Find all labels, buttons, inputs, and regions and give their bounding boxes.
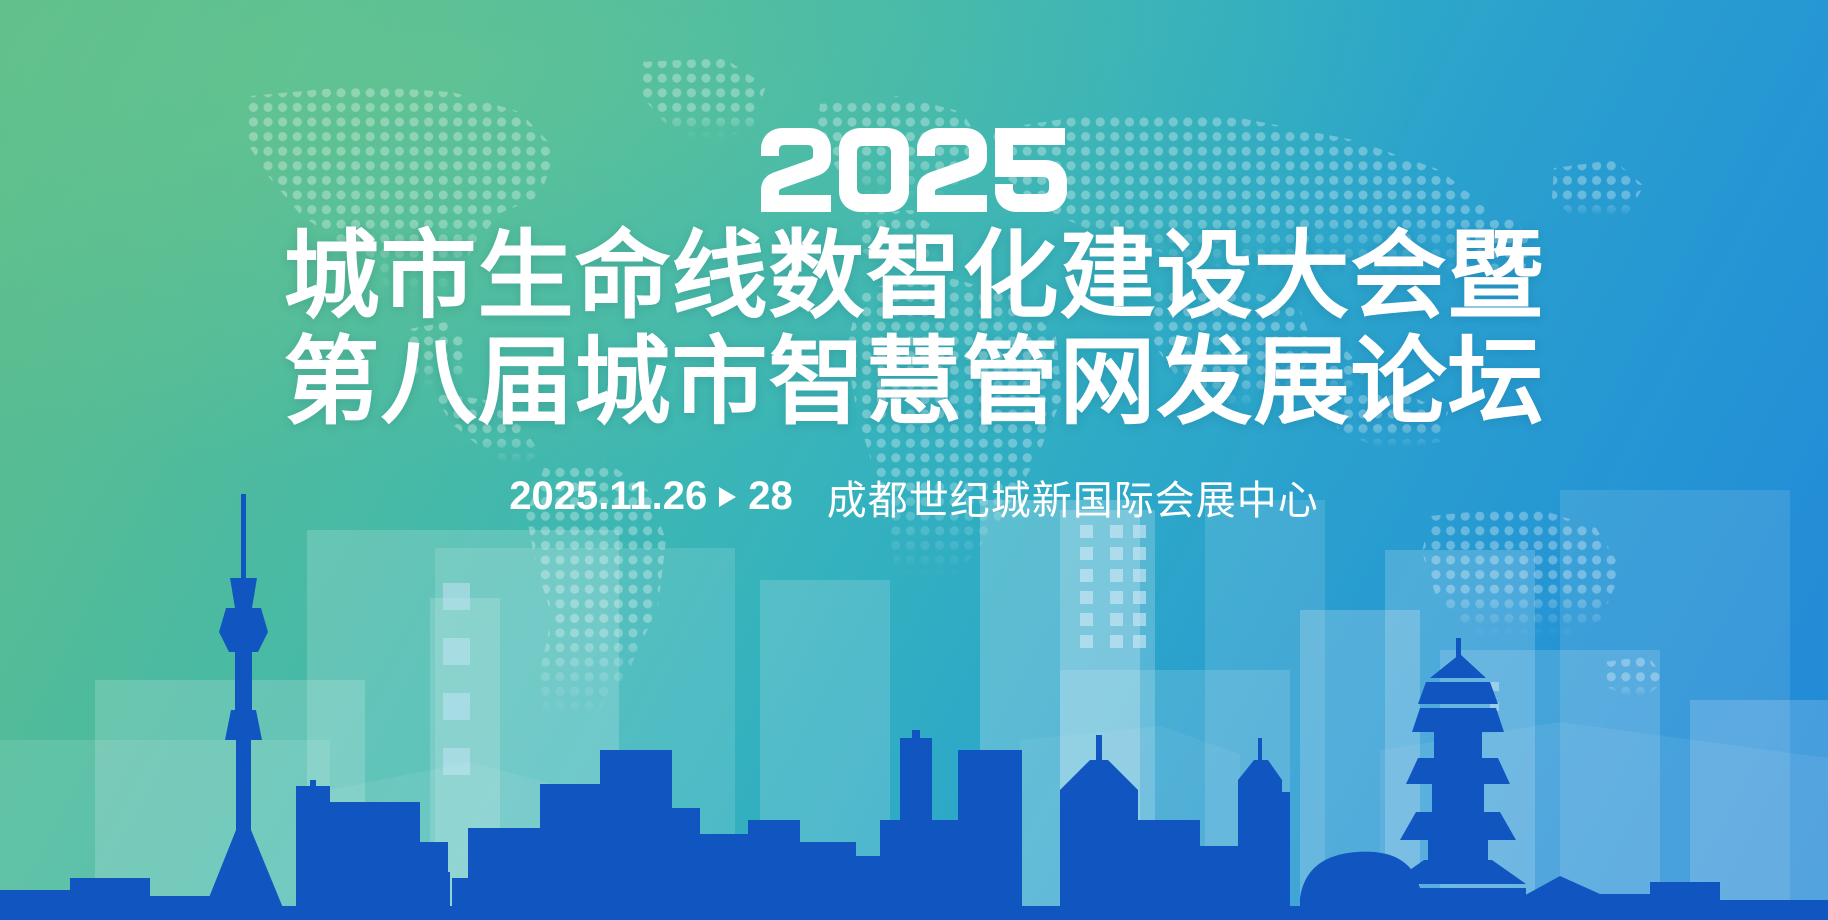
conference-banner: 城市生命线数智化建设大会暨 第八届城市智慧管网发展论坛 2025.11.26 2… (0, 0, 1828, 920)
event-date-end: 28 (748, 474, 793, 519)
conference-title-line-1: 城市生命线数智化建设大会暨 (0, 226, 1828, 328)
event-date: 2025.11.26 28 (509, 474, 793, 519)
event-venue: 成都世纪城新国际会展中心 (827, 468, 1319, 526)
event-meta: 2025.11.26 28 成都世纪城新国际会展中心 (0, 468, 1828, 526)
play-triangle-icon (719, 487, 736, 507)
year-2025-glyphs (759, 128, 1069, 212)
conference-title-line-2: 第八届城市智慧管网发展论坛 (0, 332, 1828, 434)
city-skyline-illustration (0, 490, 1828, 920)
banner-content: 城市生命线数智化建设大会暨 第八届城市智慧管网发展论坛 2025.11.26 2… (0, 0, 1828, 526)
year-logo (0, 128, 1828, 212)
event-date-start: 2025.11.26 (509, 474, 707, 519)
